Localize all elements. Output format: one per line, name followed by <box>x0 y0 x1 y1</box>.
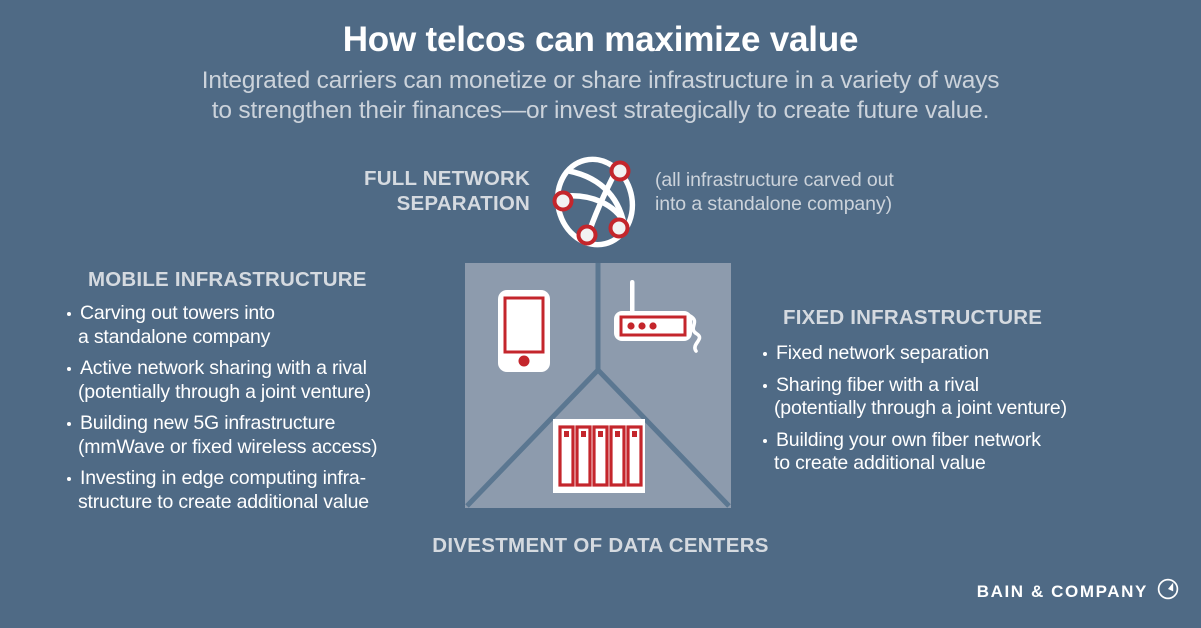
subtitle-line-1: Integrated carriers can monetize or shar… <box>0 66 1201 96</box>
router-icon <box>613 278 709 365</box>
bain-logo: BAIN & COMPANY <box>977 578 1179 605</box>
fixed-infrastructure-list: Fixed network separation Sharing fiber w… <box>762 342 1162 484</box>
network-node-bottom-left <box>579 227 596 244</box>
infographic-canvas: How telcos can maximize value Integrated… <box>0 0 1201 628</box>
bullet-line-2: structure to create additional value <box>78 491 466 515</box>
bullet-line-2: a standalone company <box>78 326 466 350</box>
bullet-line-1: Building new 5G infrastructure <box>80 412 335 434</box>
data-center-racks-icon <box>553 419 645 498</box>
divestment-caption: DIVESTMENT OF DATA CENTERS <box>0 534 1201 558</box>
fns-note-line-1: (all infrastructure carved out <box>655 168 894 192</box>
mobile-phone-icon <box>497 289 551 378</box>
fns-label-line-1: FULL NETWORK <box>330 166 530 191</box>
mobile-infrastructure-heading: MOBILE INFRASTRUCTURE <box>88 268 367 292</box>
full-network-separation-label: FULL NETWORK SEPARATION <box>330 166 530 216</box>
list-item: Sharing fiber with a rival (potentially … <box>762 374 1162 421</box>
infrastructure-panel <box>465 263 731 508</box>
bullet-line-1: Carving out towers into <box>80 302 275 324</box>
network-globe-icon <box>545 152 645 257</box>
page-subtitle: Integrated carriers can monetize or shar… <box>0 66 1201 126</box>
list-item: Carving out towers into a standalone com… <box>66 302 466 349</box>
fixed-infrastructure-heading: FIXED INFRASTRUCTURE <box>783 306 1042 330</box>
bullet-line-1: Investing in edge computing infra- <box>80 467 366 489</box>
bullet-line-1: Active network sharing with a rival <box>80 357 367 379</box>
list-item: Building new 5G infrastructure (mmWave o… <box>66 412 466 459</box>
bullet-line-2: to create additional value <box>774 452 1162 476</box>
bullet-line-2: (potentially through a joint venture) <box>774 397 1162 421</box>
bullet-line-2: (potentially through a joint venture) <box>78 381 466 405</box>
bullet-line-1: Sharing fiber with a rival <box>776 374 979 396</box>
list-item: Building your own fiber network to creat… <box>762 429 1162 476</box>
bullet-line-1: Building your own fiber network <box>776 429 1041 451</box>
bain-circle-wedge-icon <box>1157 578 1179 605</box>
page-title: How telcos can maximize value <box>0 18 1201 62</box>
mobile-infrastructure-list: Carving out towers into a standalone com… <box>66 302 466 522</box>
bullet-line-1: Fixed network separation <box>776 342 989 364</box>
full-network-separation-note: (all infrastructure carved out into a st… <box>655 168 894 216</box>
bain-wordmark: BAIN & COMPANY <box>977 582 1148 602</box>
list-item: Fixed network separation <box>762 342 1162 366</box>
list-item: Active network sharing with a rival (pot… <box>66 357 466 404</box>
bullet-line-2: (mmWave or fixed wireless access) <box>78 436 466 460</box>
fns-note-line-2: into a standalone company) <box>655 192 894 216</box>
network-node-left <box>555 193 572 210</box>
list-item: Investing in edge computing infra- struc… <box>66 467 466 514</box>
header: How telcos can maximize value Integrated… <box>0 18 1201 126</box>
network-node-bottom-right <box>611 220 628 237</box>
full-network-separation-row: FULL NETWORK SEPARATION <box>330 158 990 254</box>
network-node-top-right <box>612 163 629 180</box>
fns-label-line-2: SEPARATION <box>330 191 530 216</box>
subtitle-line-2: to strengthen their finances—or invest s… <box>0 96 1201 126</box>
